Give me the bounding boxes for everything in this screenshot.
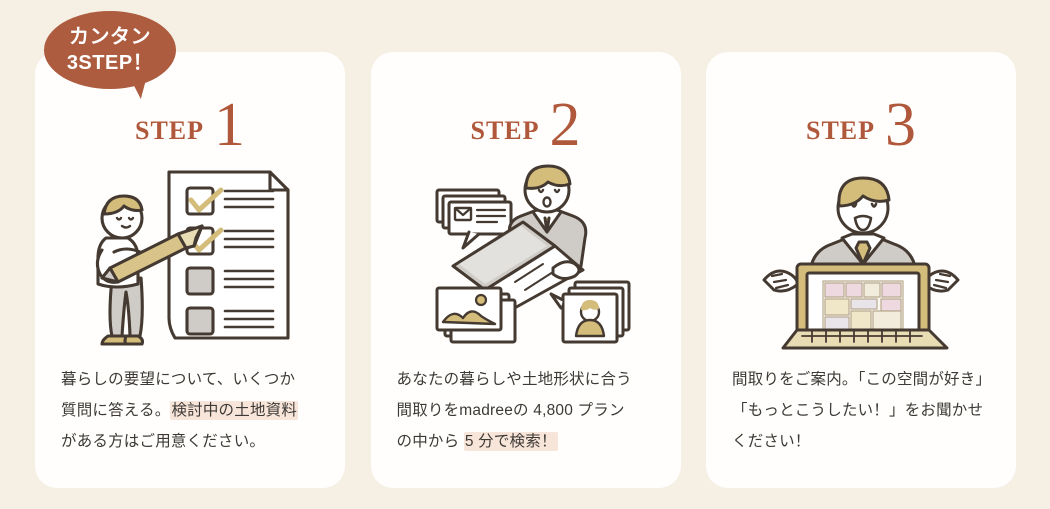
step-card-3-line-1: 間取りをご案内。「この空間が好き」 — [732, 364, 994, 395]
illustration-laptop-search — [371, 156, 681, 356]
step-card-3: STEP3 — [706, 52, 1016, 488]
step-card-2-text: あなたの暮らしや土地形状に合う 間取りをmadreeの 4,800 プラン の中… — [397, 364, 659, 457]
step-word-3: STEP — [806, 107, 875, 148]
illustration-checklist — [35, 156, 345, 356]
step-card-2-line-1: あなたの暮らしや土地形状に合う — [397, 364, 659, 395]
step-card-1-text: 暮らしの要望について、いくつか 質問に答える。検討中の土地資料 がある方はご用意… — [61, 364, 323, 457]
highlighted-text-segment: 検討中の土地資料 — [170, 401, 298, 420]
badge-text: カンタン 3STEP！ — [44, 11, 176, 89]
step-number-2: 2 — [550, 91, 581, 159]
step-number-3: 3 — [885, 91, 916, 159]
text-segment: あなたの暮らしや土地形状に合う — [397, 371, 632, 388]
badge-line-2: 3STEP！ — [67, 50, 153, 76]
text-segment: がある方はご用意ください。 — [61, 433, 265, 450]
text-segment: 質問に答える。 — [61, 402, 170, 419]
text-segment: 暮らしの要望について、いくつか — [61, 371, 295, 388]
text-segment: 「もっとこうしたい！」をお聞かせ — [732, 402, 983, 419]
step-word-1: STEP — [135, 107, 204, 148]
text-segment: 間取りをご案内。「この空間が好き」 — [732, 371, 991, 388]
step-card-1-line-1: 暮らしの要望について、いくつか — [61, 364, 323, 395]
badge-line-1: カンタン — [69, 24, 151, 50]
step-card-3-line-2: 「もっとこうしたい！」をお聞かせ — [732, 395, 994, 426]
step-card-1-line-3: がある方はご用意ください。 — [61, 426, 323, 457]
step-heading-3: STEP3 — [706, 88, 1016, 150]
step-card-2-line-2: 間取りをmadreeの 4,800 プラン — [397, 395, 659, 426]
step-card-1: STEP1 — [35, 52, 345, 488]
step-card-2: STEP2 — [371, 52, 681, 488]
step-number-1: 1 — [214, 91, 245, 159]
text-segment: の中から — [397, 433, 464, 450]
step-card-2-line-3: の中から 5 分で検索！ — [397, 426, 659, 457]
step-heading-2: STEP2 — [371, 88, 681, 150]
step-word-2: STEP — [470, 107, 539, 148]
step-card-3-line-3: ください！ — [732, 426, 994, 457]
katantan-3step-badge: カンタン 3STEP！ — [44, 11, 176, 89]
highlighted-text-segment: 5 分で検索！ — [464, 432, 558, 451]
step-card-1-line-2: 質問に答える。検討中の土地資料 — [61, 395, 323, 426]
illustration-floorplan-presentation — [706, 156, 1016, 356]
steps-row: STEP1 — [35, 52, 1016, 488]
text-segment: ください！ — [732, 433, 811, 450]
step-card-3-text: 間取りをご案内。「この空間が好き」 「もっとこうしたい！」をお聞かせ ください！ — [732, 364, 994, 457]
step-heading-1: STEP1 — [35, 88, 345, 150]
text-segment: 間取りをmadreeの 4,800 プラン — [397, 402, 625, 419]
